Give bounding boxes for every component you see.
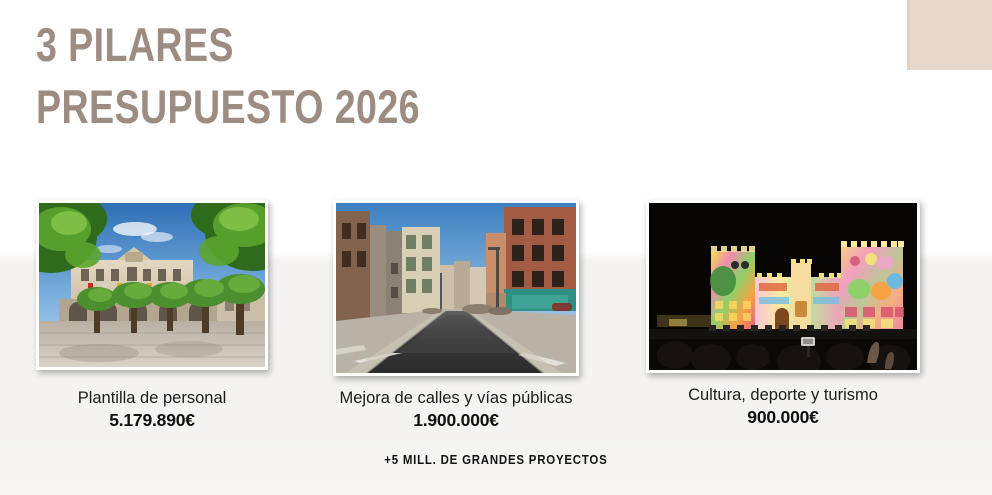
- photo-frame-2: [333, 200, 579, 376]
- budget-pillars-slide: 3 PILARES PRESUPUESTO 2026: [0, 0, 992, 495]
- castle-light-projection-photo: [649, 203, 917, 370]
- pillar-caption-2: Mejora de calles y vías públicas 1.900.0…: [303, 388, 609, 431]
- photo-frame-3: [646, 200, 920, 373]
- title-line-1: 3 PILARES: [36, 14, 420, 76]
- pillar-caption-amount-3: 900.000€: [628, 406, 938, 428]
- pillar-caption-amount-1: 5.179.890€: [16, 409, 288, 431]
- footer-note-text: +5 MILL. DE GRANDES PROYECTOS: [384, 452, 607, 467]
- footer-note: +5 MILL. DE GRANDES PROYECTOS: [0, 452, 992, 467]
- pillar-caption-title-3: Cultura, deporte y turismo: [628, 385, 938, 406]
- town-hall-plaza-photo: [39, 203, 265, 367]
- page-title: 3 PILARES PRESUPUESTO 2026: [36, 14, 516, 138]
- photo-frame-1: [36, 200, 268, 370]
- pillar-caption-1: Plantilla de personal 5.179.890€: [16, 388, 288, 431]
- pillar-caption-3: Cultura, deporte y turismo 900.000€: [628, 385, 938, 428]
- title-line-2: PRESUPUESTO 2026: [36, 76, 420, 138]
- repaved-street-photo: [336, 203, 576, 373]
- pillar-caption-amount-2: 1.900.000€: [303, 409, 609, 431]
- pillar-caption-title-1: Plantilla de personal: [16, 388, 288, 409]
- pillar-caption-title-2: Mejora de calles y vías públicas: [303, 388, 609, 409]
